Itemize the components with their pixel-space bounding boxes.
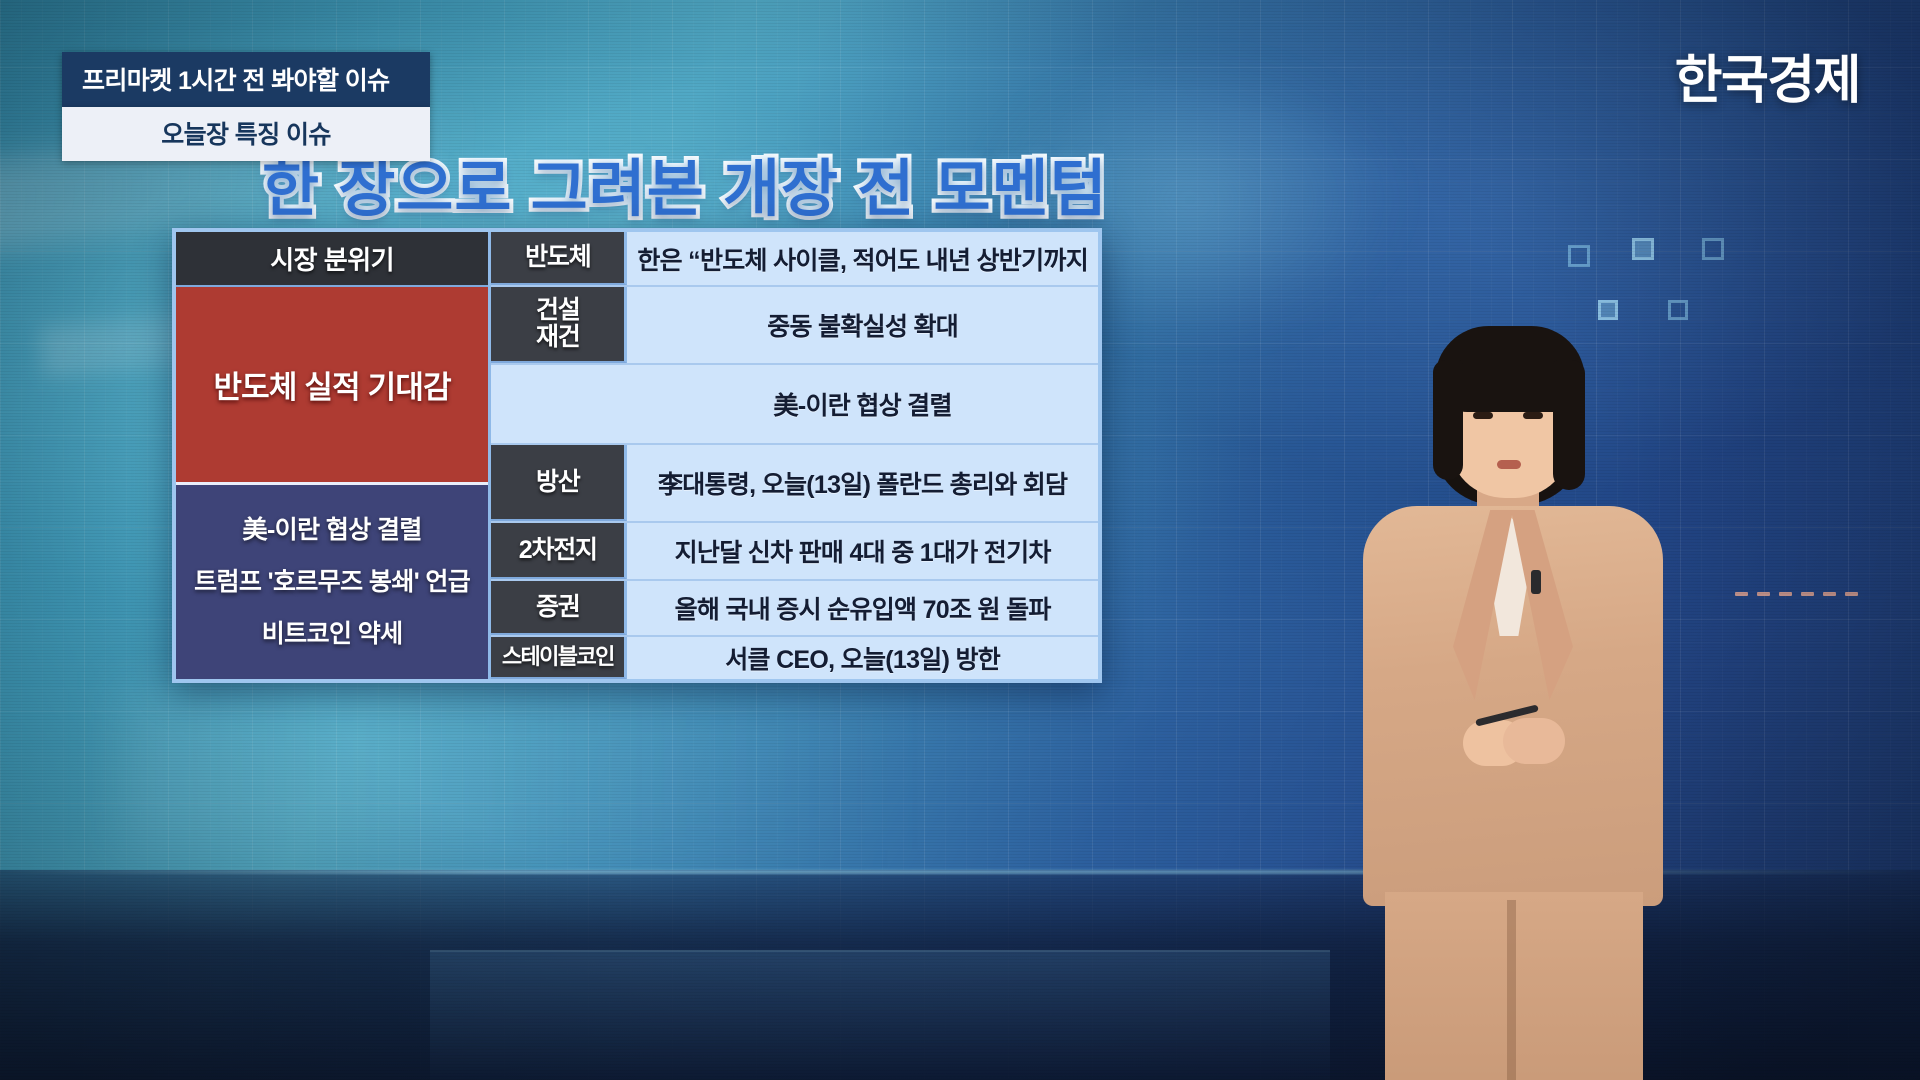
anchor-eye-right (1523, 412, 1543, 419)
program-header: 프리마켓 1시간 전 봐야할 이슈 오늘장 특징 이슈 (62, 52, 430, 161)
issue-headline: 한은 “반도체 사이클, 적어도 내년 상반기까지 (627, 232, 1098, 285)
anchor-eye-left (1473, 412, 1493, 419)
market-mood-positive-block: 반도체 실적 기대감 (176, 287, 488, 485)
light-streak (120, 690, 1120, 850)
issue-headline: 지난달 신차 판매 4대 중 1대가 전기차 (627, 523, 1098, 579)
issue-headline: 李대통령, 오늘(13일) 폴란드 총리와 회담 (627, 445, 1098, 521)
issue-category: 2차전지 (491, 523, 627, 579)
decorative-square (1598, 300, 1618, 320)
market-mood-negative-line-3: 비트코인 약세 (262, 614, 403, 650)
table-row: 2차전지 지난달 신차 판매 4대 중 1대가 전기차 (491, 523, 1098, 581)
table-row: 건설 재건 중동 불확실성 확대 (491, 287, 1098, 365)
broadcast-stage: 프리마켓 1시간 전 봐야할 이슈 오늘장 특징 이슈 한국경제 한 장으로 그… (0, 0, 1920, 1080)
anchor-trouser-seam (1507, 900, 1516, 1080)
broadcaster-logo: 한국경제 (1675, 38, 1860, 113)
decorative-square (1632, 238, 1654, 260)
market-mood-positive-text: 반도체 실적 기대감 (213, 362, 450, 407)
anchor-mouth (1497, 460, 1521, 469)
decorative-square (1668, 300, 1688, 320)
program-header-primary: 프리마켓 1시간 전 봐야할 이슈 (62, 52, 430, 107)
issue-category: 증권 (491, 581, 627, 635)
anchor-hair-left (1433, 360, 1463, 480)
market-mood-column: 시장 분위기 반도체 실적 기대감 美-이란 협상 결렬 트럼프 '호르무즈 봉… (176, 232, 491, 679)
issue-category: 반도체 (491, 232, 627, 285)
news-anchor (1325, 320, 1755, 1080)
anchor-lapel-mic (1531, 570, 1541, 594)
decorative-square (1568, 245, 1590, 267)
market-mood-header: 시장 분위기 (176, 232, 488, 287)
issue-headline: 서클 CEO, 오늘(13일) 방한 (627, 637, 1098, 679)
market-mood-negative-line-2: 트럼프 '호르무즈 봉쇄' 언급 (194, 562, 470, 598)
anchor-hand-right (1503, 718, 1565, 764)
momentum-table: 시장 분위기 반도체 실적 기대감 美-이란 협상 결렬 트럼프 '호르무즈 봉… (172, 228, 1102, 683)
issue-rows: 반도체 한은 “반도체 사이클, 적어도 내년 상반기까지 건설 재건 중동 불… (491, 232, 1098, 679)
table-row: 스테이블코인 서클 CEO, 오늘(13일) 방한 (491, 637, 1098, 679)
issue-headline: 중동 불확실성 확대 (627, 287, 1098, 363)
market-mood-negative-line-1: 美-이란 협상 결렬 (243, 510, 422, 546)
decorative-square (1702, 238, 1724, 260)
issue-category-spacer (491, 365, 627, 443)
table-row: 방산 李대통령, 오늘(13일) 폴란드 총리와 회담 (491, 445, 1098, 523)
market-mood-negative-block: 美-이란 협상 결렬 트럼프 '호르무즈 봉쇄' 언급 비트코인 약세 (176, 485, 488, 679)
anchor-hair-right (1553, 360, 1585, 490)
issue-headline: 美-이란 협상 결렬 (627, 365, 1098, 443)
issue-category: 방산 (491, 445, 627, 521)
issue-category: 건설 재건 (491, 287, 627, 363)
issue-category: 스테이블코인 (491, 637, 627, 679)
table-row: 증권 올해 국내 증시 순유입액 70조 원 돌파 (491, 581, 1098, 637)
studio-floor-panel (430, 950, 1330, 1080)
table-row: 반도체 한은 “반도체 사이클, 적어도 내년 상반기까지 (491, 232, 1098, 287)
program-header-secondary: 오늘장 특징 이슈 (62, 107, 430, 161)
table-row: 美-이란 협상 결렬 (491, 365, 1098, 445)
issue-headline: 올해 국내 증시 순유입액 70조 원 돌파 (627, 581, 1098, 635)
